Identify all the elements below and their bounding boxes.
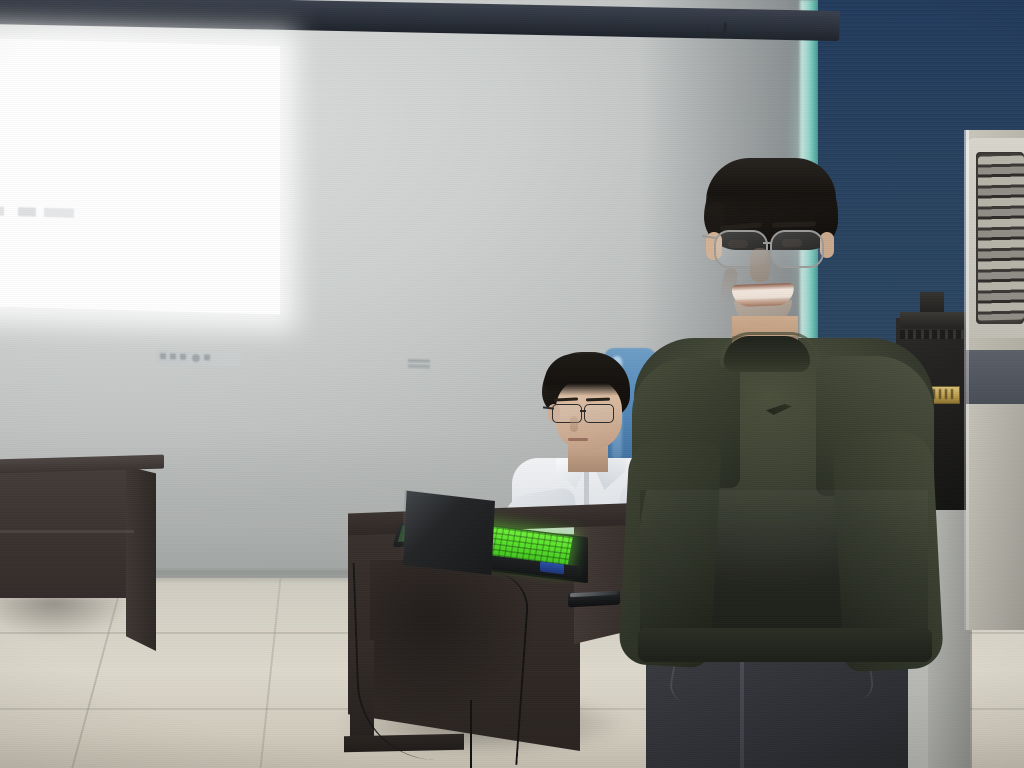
sweater-hem bbox=[638, 628, 932, 662]
app-icon[interactable] bbox=[192, 354, 200, 362]
slide-text-line bbox=[0, 206, 74, 218]
system-clock bbox=[408, 359, 430, 369]
glasses-lens-right bbox=[584, 404, 614, 423]
trouser-crease bbox=[740, 660, 744, 768]
browser-icon[interactable] bbox=[180, 354, 186, 360]
tray-icon[interactable] bbox=[204, 354, 210, 360]
air-conditioner-lower bbox=[966, 404, 1024, 630]
side-desk-side-panel bbox=[126, 466, 156, 651]
air-conditioner-control-band[interactable] bbox=[966, 350, 1024, 406]
glasses-bridge bbox=[580, 410, 586, 412]
sweater-collar-rim bbox=[720, 332, 820, 370]
mouth bbox=[568, 438, 588, 441]
air-vent-louvers-icon[interactable] bbox=[978, 155, 1024, 320]
hair-top bbox=[706, 158, 836, 216]
folder-icon[interactable] bbox=[170, 353, 176, 359]
glasses-lens-right bbox=[770, 230, 824, 268]
side-desk-body bbox=[0, 468, 134, 598]
glasses-bridge bbox=[763, 242, 772, 244]
photo-scene: Classroom presentation photograph Lectur… bbox=[0, 0, 1024, 768]
hair-fringe bbox=[544, 354, 626, 396]
start-icon[interactable] bbox=[160, 353, 166, 359]
side-desk-seam bbox=[0, 530, 134, 533]
projection-screen bbox=[0, 38, 280, 315]
nose bbox=[570, 416, 578, 432]
taskbar[interactable] bbox=[156, 350, 240, 366]
air-conditioner-edge-highlight bbox=[964, 130, 969, 630]
standing-presenter bbox=[620, 140, 950, 768]
nose bbox=[750, 248, 770, 282]
